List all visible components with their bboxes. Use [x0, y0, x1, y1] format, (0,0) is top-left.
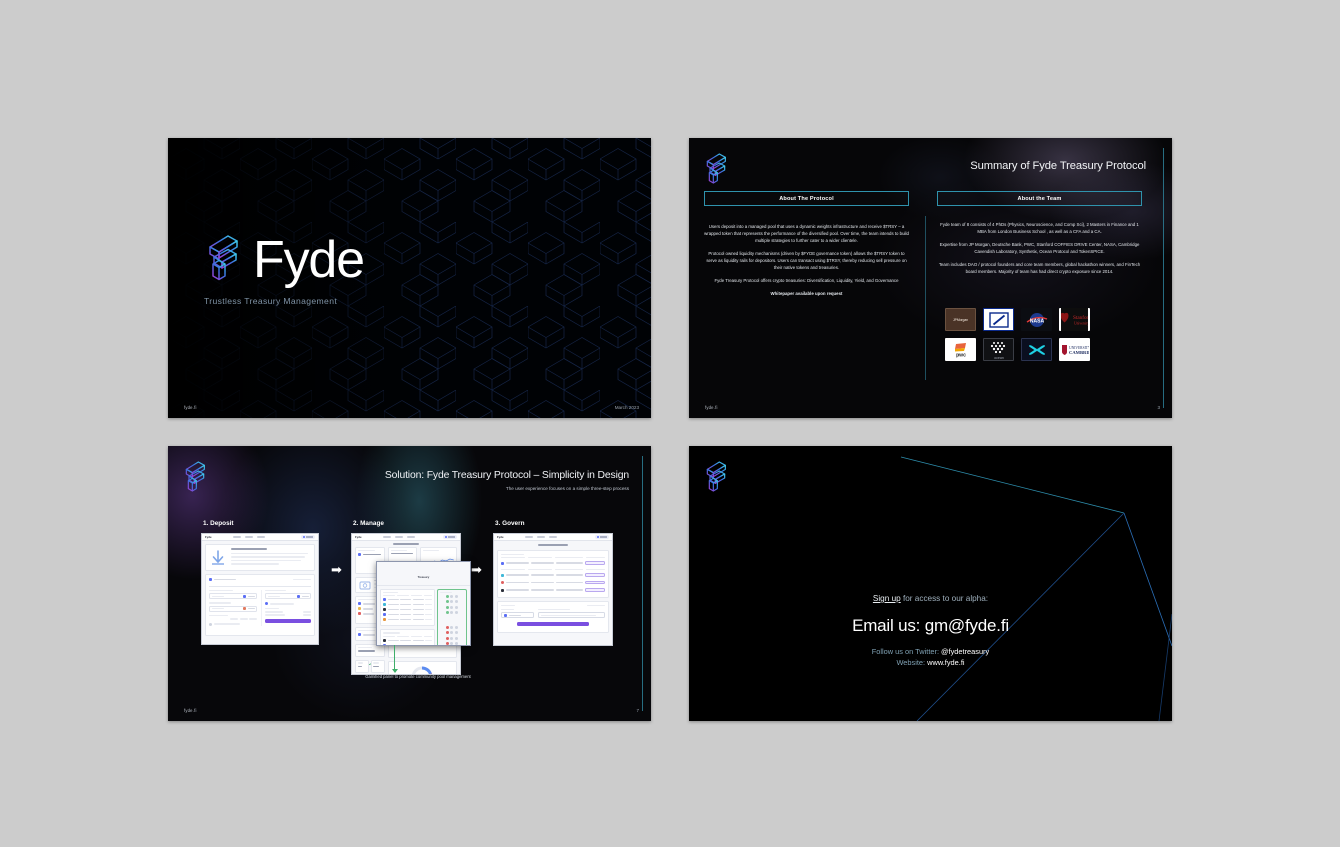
- university-of-cambridge-logo: UNIVERSITY OF CAMBRIDGE: [1059, 338, 1090, 361]
- team-paragraph-2: Expertise from JP Morgan, Deutsche Bank,…: [937, 241, 1142, 255]
- mock-treasury-overlay-panel[interactable]: Treasury: [376, 561, 471, 646]
- website-label: Website:: [896, 658, 927, 667]
- pwc-logo: pwc: [945, 338, 976, 361]
- section-header-protocol[interactable]: About The Protocol: [704, 191, 909, 206]
- brand-wordmark: Fyde: [253, 234, 364, 286]
- svg-text:CAMBRIDGE: CAMBRIDGE: [1069, 350, 1089, 355]
- svg-text:NASA: NASA: [1029, 318, 1044, 324]
- institution-logo-grid: JPMorgan NASA Stanford University: [945, 308, 1090, 361]
- fyde-isometric-logo-icon: [204, 230, 242, 290]
- mock-topbar: Fyde: [494, 534, 612, 541]
- team-text-column: Fyde team of 8 consists of 4 PhDs (Physi…: [937, 221, 1142, 281]
- fyde-isometric-logo-icon: [703, 150, 729, 190]
- page-subtitle: The user experience focuses on a simple …: [506, 486, 629, 491]
- page-number: 3: [1157, 405, 1160, 410]
- team-paragraph-1: Fyde team of 8 consists of 4 PhDs (Physi…: [937, 221, 1142, 235]
- ocean-protocol-logo: ocean: [983, 338, 1014, 361]
- svg-text:University: University: [1074, 322, 1088, 326]
- deposit-form-card[interactable]: [205, 574, 315, 636]
- mock-nav[interactable]: [383, 536, 415, 538]
- section-header-team[interactable]: About the Team: [937, 191, 1142, 206]
- callout-connector-arrow-icon: [394, 645, 395, 669]
- signup-link[interactable]: Sign up: [873, 594, 901, 603]
- vault-icon: [359, 579, 371, 591]
- mock-brand-label: Fyde: [205, 535, 212, 539]
- protocol-paragraph-2: Protocol owned liquidity mechanisms (dri…: [704, 250, 909, 271]
- svg-text:Stanford: Stanford: [1073, 314, 1088, 321]
- mock-wallet-chip[interactable]: [443, 535, 458, 539]
- whitepaper-note[interactable]: Whitepaper available upon request: [704, 290, 909, 297]
- column-divider: [925, 216, 926, 380]
- mock-brand-label: Fyde: [497, 535, 504, 539]
- synthetix-logo: [1021, 338, 1052, 361]
- page-title: Solution: Fyde Treasury Protocol – Simpl…: [385, 470, 629, 481]
- footer-brand: fyde.fi: [184, 405, 197, 410]
- right-edge-rule: [1163, 148, 1164, 408]
- website-line: Website: www.fyde.fi: [689, 658, 1172, 669]
- right-edge-rule: [642, 456, 643, 711]
- slide-title[interactable]: Fyde Trustless Treasury Management fyde.…: [168, 138, 651, 418]
- nasa-logo: NASA: [1021, 308, 1052, 331]
- step-label-deposit: 1. Deposit: [203, 520, 234, 527]
- governance-table-card[interactable]: [497, 550, 609, 598]
- signup-rest: for access to our alpha:: [901, 594, 988, 603]
- mock-confirm-button[interactable]: [265, 619, 311, 623]
- mock-deposit-app[interactable]: Fyde: [201, 533, 319, 645]
- deposit-heading: [231, 548, 267, 550]
- gamified-highlight-column[interactable]: [437, 589, 467, 647]
- step-label-govern: 3. Govern: [495, 520, 524, 527]
- email-line[interactable]: Email us: gm@fyde.fi: [689, 616, 1172, 636]
- signup-line: Sign up for access to our alpha:: [689, 594, 1172, 603]
- fyde-isometric-logo-icon: [703, 458, 729, 498]
- footer-brand: fyde.fi: [184, 708, 197, 713]
- mock-delegate-button[interactable]: [517, 622, 590, 626]
- tagline: Trustless Treasury Management: [204, 296, 337, 306]
- fyde-isometric-logo-icon: [182, 458, 208, 498]
- slide-solution[interactable]: Solution: Fyde Treasury Protocol – Simpl…: [168, 446, 651, 721]
- slide-deck: Fyde Trustless Treasury Management fyde.…: [0, 0, 1340, 847]
- mock-topbar: Fyde: [202, 534, 318, 541]
- contact-block: Sign up for access to our alpha: Email u…: [689, 594, 1172, 668]
- deposit-hero-card: [205, 544, 315, 571]
- mock-brand-label: Fyde: [355, 535, 362, 539]
- twitter-label: Follow us on Twitter:: [872, 647, 941, 656]
- team-paragraph-3: Team includes DAO / protocol founders an…: [937, 261, 1142, 275]
- treasury-panel-title: Treasury: [418, 575, 430, 579]
- mock-nav[interactable]: [525, 536, 557, 538]
- jpmorgan-logo-text: JPMorgan: [953, 318, 968, 322]
- mock-wallet-chip[interactable]: [595, 535, 610, 539]
- mock-topbar: Fyde: [352, 534, 460, 541]
- twitter-handle[interactable]: @fydetreasury: [941, 647, 989, 656]
- download-arrow-icon: [209, 549, 227, 567]
- jpmorgan-logo: JPMorgan: [945, 308, 976, 331]
- mock-wallet-chip[interactable]: [301, 535, 316, 539]
- section-header-protocol-label: About The Protocol: [779, 196, 834, 202]
- stanford-university-logo: Stanford University: [1059, 308, 1090, 331]
- arrow-right-icon: ➡: [471, 563, 482, 576]
- delegate-form-card[interactable]: [497, 601, 609, 633]
- protocol-text-column: Users deposit into a managed pool that u…: [704, 223, 909, 303]
- section-header-team-label: About the Team: [1018, 196, 1062, 202]
- page-number: 7: [636, 708, 639, 713]
- footer-brand: fyde.fi: [705, 405, 718, 410]
- svg-text:pwc: pwc: [956, 353, 966, 359]
- page-title: Summary of Fyde Treasury Protocol: [970, 160, 1146, 172]
- step-label-manage: 2. Manage: [353, 520, 384, 527]
- footer-date: March 2023: [615, 405, 639, 410]
- deutsche-bank-logo: [983, 308, 1014, 331]
- protocol-paragraph-1: Users deposit into a managed pool that u…: [704, 223, 909, 244]
- twitter-line: Follow us on Twitter: @fydetreasury: [689, 647, 1172, 658]
- title-lockup: Fyde: [204, 230, 364, 290]
- slide-summary[interactable]: Summary of Fyde Treasury Protocol About …: [689, 138, 1172, 418]
- geometric-line-background: [689, 446, 1172, 721]
- mock-nav[interactable]: [233, 536, 265, 538]
- protocol-paragraph-3: Fyde Treasury Protocol offers crypto tre…: [704, 277, 909, 284]
- slide-contact[interactable]: Sign up for access to our alpha: Email u…: [689, 446, 1172, 721]
- social-block: Follow us on Twitter: @fydetreasury Webs…: [689, 647, 1172, 668]
- mock-govern-app[interactable]: Fyde: [493, 533, 613, 646]
- svg-text:ocean: ocean: [994, 356, 1004, 360]
- arrow-right-icon: ➡: [331, 563, 342, 576]
- website-value[interactable]: www.fyde.fi: [927, 658, 964, 667]
- gamified-caption: Gamified panel to promote community pool…: [363, 674, 473, 680]
